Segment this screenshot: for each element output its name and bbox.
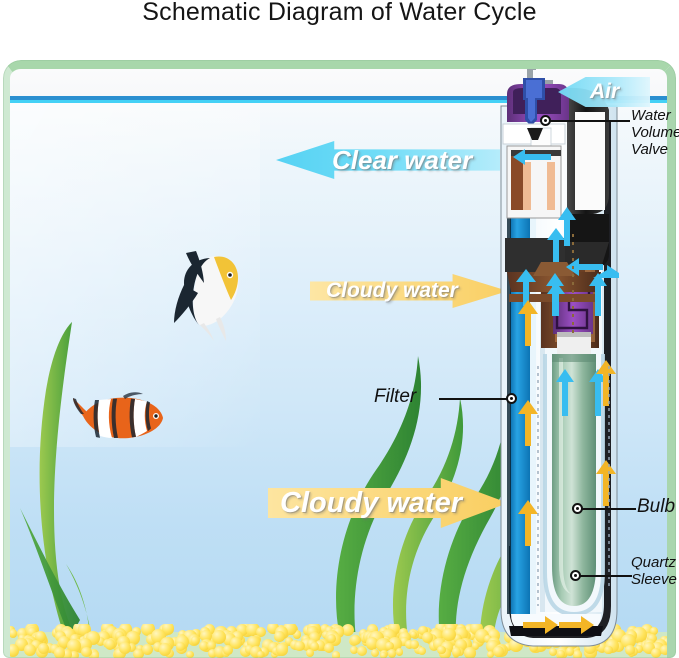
flow-arrow-air: Air xyxy=(558,74,658,110)
leader-line xyxy=(439,398,511,400)
leader-dot xyxy=(540,115,551,126)
bulb-label: Bulb xyxy=(637,496,675,517)
cloudy-water-lower-label: Cloudy water xyxy=(280,487,462,520)
leader-dot xyxy=(572,503,583,514)
leader-dot xyxy=(570,570,581,581)
filter-label: Filter xyxy=(374,386,416,407)
leader-line xyxy=(546,120,630,122)
fish-clownfish xyxy=(73,390,165,444)
fish-angelfish xyxy=(174,249,254,341)
quartz-sleeve-label: Quartz Sleeve xyxy=(631,555,677,589)
cloudy-water-upper-label: Cloudy water xyxy=(326,279,458,303)
page-title: Schematic Diagram of Water Cycle xyxy=(0,0,679,27)
water-volume-valve-label: Water Volume Valve xyxy=(631,108,679,158)
leader-line xyxy=(578,508,636,510)
air-label: Air xyxy=(590,80,619,104)
clear-water-label: Clear water xyxy=(332,145,472,176)
leader-dot xyxy=(506,393,517,404)
uv-filter-unit xyxy=(497,66,623,652)
flow-arrow-cloudy-water-upper: Cloudy water xyxy=(310,262,508,320)
flow-arrow-clear-water: Clear water xyxy=(276,128,500,192)
leader-line xyxy=(578,575,632,577)
flow-arrow-cloudy-water-lower: Cloudy water xyxy=(268,462,508,544)
diagram-canvas: Schematic Diagram of Water Cycle xyxy=(0,0,679,658)
